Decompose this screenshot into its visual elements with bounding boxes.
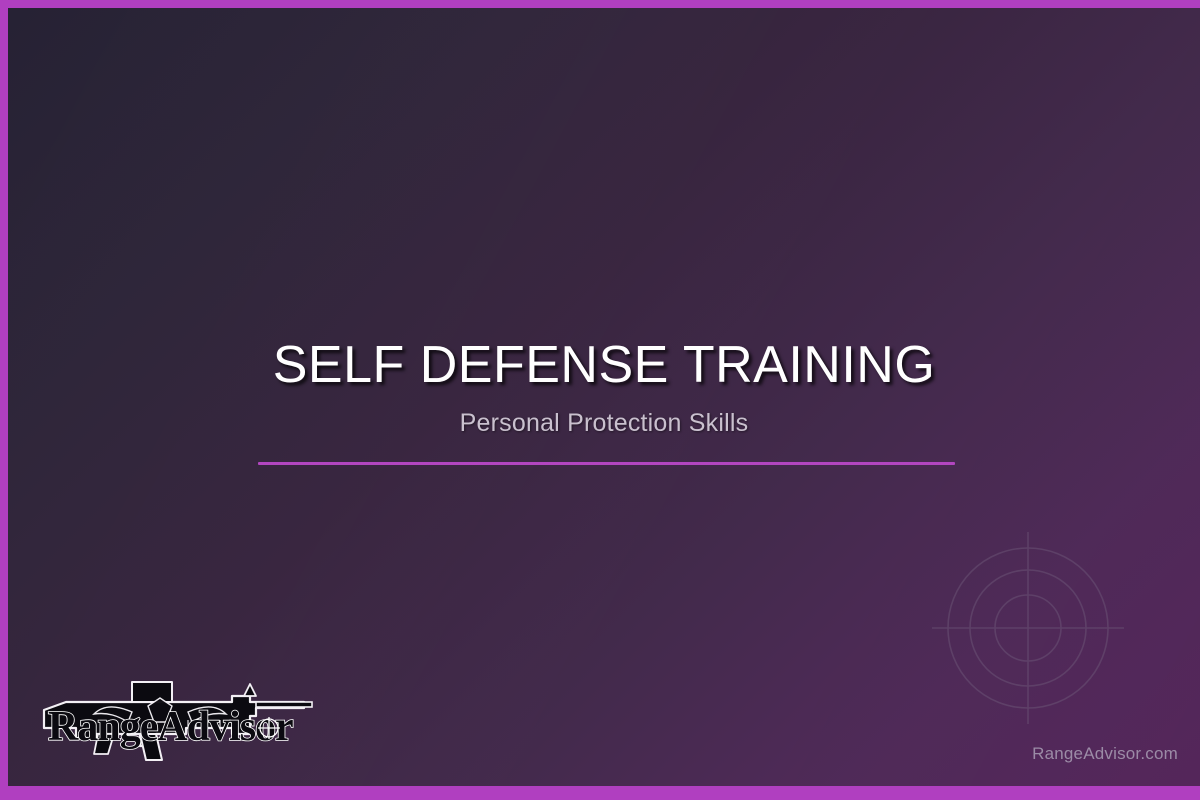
page-subtitle: Personal Protection Skills xyxy=(8,409,1200,438)
target-crosshair-graphic xyxy=(930,530,1126,726)
brand-wordmark: RangeAdvisor xyxy=(48,704,293,750)
brand-logo: RangeAdvisor xyxy=(36,676,318,768)
site-watermark: RangeAdvisor.com xyxy=(1032,744,1178,764)
title-divider xyxy=(258,462,955,465)
presentation-slide: SELF DEFENSE TRAINING Personal Protectio… xyxy=(0,0,1200,800)
title-block: SELF DEFENSE TRAINING Personal Protectio… xyxy=(8,338,1200,438)
page-title: SELF DEFENSE TRAINING xyxy=(8,338,1200,393)
brand-wordmark-text: RangeAdvisor xyxy=(48,704,293,750)
